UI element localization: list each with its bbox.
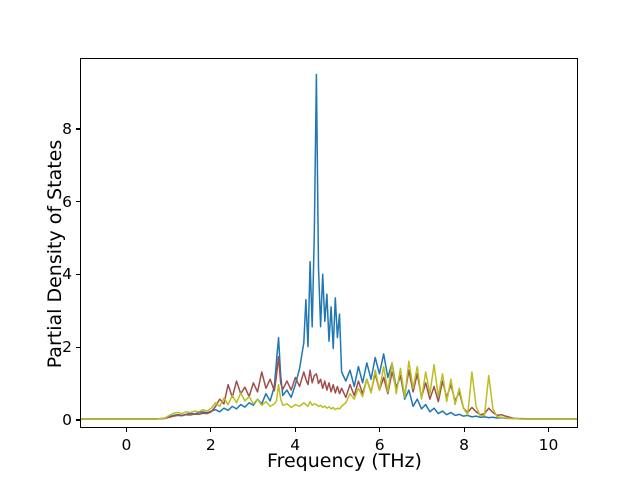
x-axis-label-text: Frequency (THz): [267, 450, 422, 472]
x-tick-mark: [210, 428, 211, 432]
y-axis-label-text: Partial Density of States: [44, 140, 66, 369]
series-line-series3: [81, 361, 577, 419]
series-line-series2: [81, 357, 577, 419]
y-tick-mark: [76, 201, 80, 202]
x-tick-mark: [464, 428, 465, 432]
y-tick-mark: [76, 347, 80, 348]
x-tick-mark: [548, 428, 549, 432]
plot-svg: [81, 59, 577, 427]
x-axis-label: Frequency (THz): [0, 450, 640, 472]
y-axis-label: Partial Density of States: [44, 69, 66, 439]
series-line-series1: [81, 75, 577, 419]
y-tick-mark: [76, 274, 80, 275]
plot-area: [80, 58, 578, 428]
series-lines: [81, 75, 577, 419]
figure-canvas: 02468 0246810 Frequency (THz) Partial De…: [0, 0, 640, 480]
y-tick-mark: [76, 128, 80, 129]
x-tick-mark: [126, 428, 127, 432]
x-tick-mark: [295, 428, 296, 432]
y-tick-mark: [76, 419, 80, 420]
x-tick-mark: [379, 428, 380, 432]
